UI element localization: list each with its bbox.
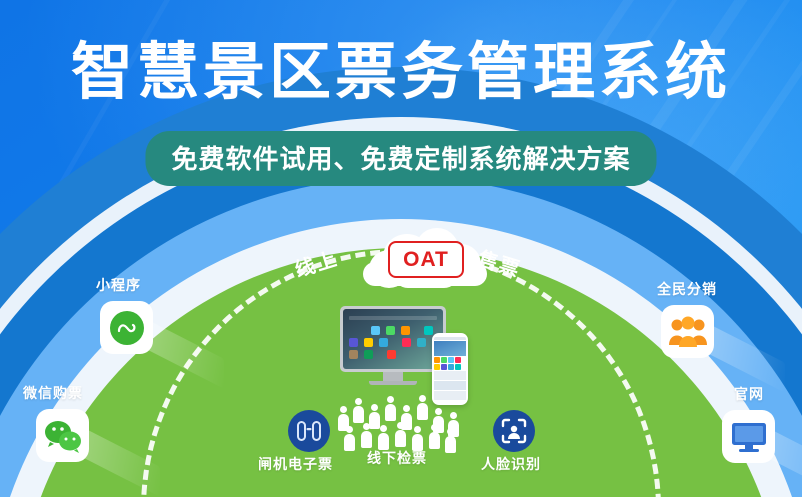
imac-stand-neck: [383, 372, 403, 381]
phone-app-icon: [448, 364, 454, 370]
page-title: 智慧景区票务管理系统: [0, 42, 802, 104]
iphone-list-row: [434, 381, 466, 390]
oat-logo-badge: OAT: [388, 241, 464, 278]
people-group-glyph: [668, 315, 708, 349]
iphone-status-bar: [434, 337, 466, 340]
desktop-app-icon: [364, 350, 373, 359]
wechat-glyph: [43, 418, 83, 454]
feature-label: 官网: [734, 384, 764, 404]
feature-gate-eticket[interactable]: 闸机电子票: [288, 410, 330, 452]
phone-app-icon: [448, 357, 454, 363]
turnstile-gate-glyph: [296, 419, 322, 443]
desktop-app-icon: [401, 326, 410, 335]
desktop-app-icon: [364, 338, 373, 347]
mini-program-glyph: [108, 309, 146, 347]
phone-app-icon: [455, 357, 461, 363]
iphone-banner-image: [434, 341, 466, 356]
imac-menu-bar: [349, 316, 437, 320]
face-scan-icon[interactable]: [493, 410, 535, 452]
face-scan-glyph: [501, 418, 527, 444]
monitor-glyph: [730, 420, 768, 454]
iphone-list-row: [434, 371, 466, 380]
phone-app-icon: [434, 357, 440, 363]
desktop-app-icon: [417, 338, 426, 347]
imac-desktop-apps: [343, 309, 443, 369]
turnstile-gate-icon[interactable]: [288, 410, 330, 452]
subtitle-badge: 免费软件试用、免费定制系统解决方案: [145, 131, 656, 186]
desktop-app-icon: [371, 326, 380, 335]
feature-official-site[interactable]: 官网: [722, 410, 775, 463]
feature-label: 线下检票: [367, 448, 427, 468]
phone-app-icon: [434, 364, 440, 370]
iphone-app-grid: [434, 357, 466, 370]
desktop-app-icon: [349, 350, 358, 359]
feature-mini-program[interactable]: 小程序: [100, 301, 153, 354]
people-group-icon[interactable]: [661, 305, 714, 358]
feature-label: 人脸识别: [481, 454, 541, 474]
desktop-app-icon: [402, 338, 411, 347]
wechat-icon[interactable]: [36, 409, 89, 462]
feature-label: 微信购票: [23, 383, 83, 403]
desktop-app-icon: [424, 326, 433, 335]
desktop-app-icon: [379, 338, 388, 347]
imac-desktop: [340, 306, 446, 385]
phone-app-icon: [455, 364, 461, 370]
desktop-app-icon: [349, 338, 358, 347]
phone-app-icon: [441, 364, 447, 370]
phone-app-icon: [441, 357, 447, 363]
feature-distribution[interactable]: 全民分销: [661, 305, 714, 358]
imac-stand-base: [369, 381, 417, 385]
desktop-app-icon: [387, 350, 396, 359]
desktop-app-icon: [386, 326, 395, 335]
feature-label: 闸机电子票: [258, 454, 333, 474]
feature-face-recognition[interactable]: 人脸识别: [493, 410, 535, 452]
crowd-icon: [338, 392, 466, 454]
mini-program-icon[interactable]: [100, 301, 153, 354]
promo-banner: 智慧景区票务管理系统 免费软件试用、免费定制系统解决方案 OAT 线上 售票: [0, 0, 802, 497]
feature-label: 小程序: [96, 275, 141, 295]
imac-screen: [340, 306, 446, 372]
feature-label: 全民分销: [657, 279, 717, 299]
feature-wechat-ticket[interactable]: 微信购票: [36, 409, 89, 462]
monitor-icon[interactable]: [722, 410, 775, 463]
